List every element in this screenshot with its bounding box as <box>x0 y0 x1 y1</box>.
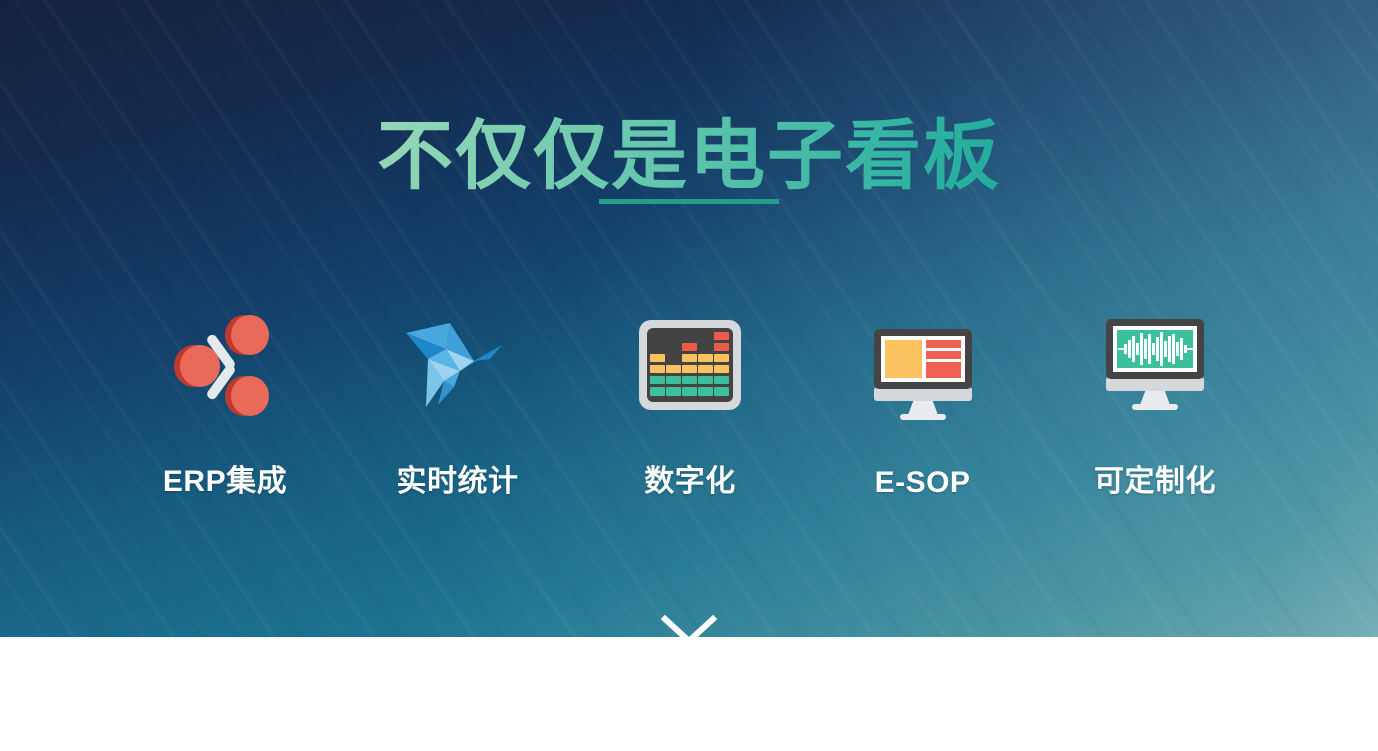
feature-label: 可定制化 <box>1050 456 1260 500</box>
title-divider <box>599 199 779 204</box>
feature-icon-wrap <box>585 300 795 430</box>
monitor-layout-icon <box>870 323 976 427</box>
feature-item-customizable[interactable]: 可定制化 <box>1050 300 1260 500</box>
monitor-waveform-icon <box>1102 313 1208 417</box>
share-network-icon <box>170 310 280 420</box>
feature-item-realtime-stats[interactable]: 实时统计 <box>353 300 563 500</box>
feature-icon-wrap <box>120 300 330 430</box>
led-equalizer-board-icon <box>638 319 742 411</box>
origami-bird-icon <box>398 315 518 415</box>
hero-banner: 不仅仅是电子看板 <box>0 0 1378 637</box>
page-title: 不仅仅是电子看板 <box>0 115 1378 199</box>
feature-label: ERP集成 <box>120 456 330 500</box>
feature-icon-wrap <box>818 310 1028 440</box>
feature-icon-wrap <box>353 300 563 430</box>
feature-label: 数字化 <box>585 456 795 500</box>
page-body-below-hero <box>0 637 1378 751</box>
feature-label: E-SOP <box>818 466 1028 500</box>
feature-item-erp[interactable]: ERP集成 <box>120 300 330 500</box>
feature-label: 实时统计 <box>353 456 563 500</box>
feature-icon-wrap <box>1050 300 1260 430</box>
feature-item-digitalization[interactable]: 数字化 <box>585 300 795 500</box>
feature-list: ERP集成 <box>120 300 1260 500</box>
feature-item-esop[interactable]: E-SOP <box>818 310 1028 500</box>
